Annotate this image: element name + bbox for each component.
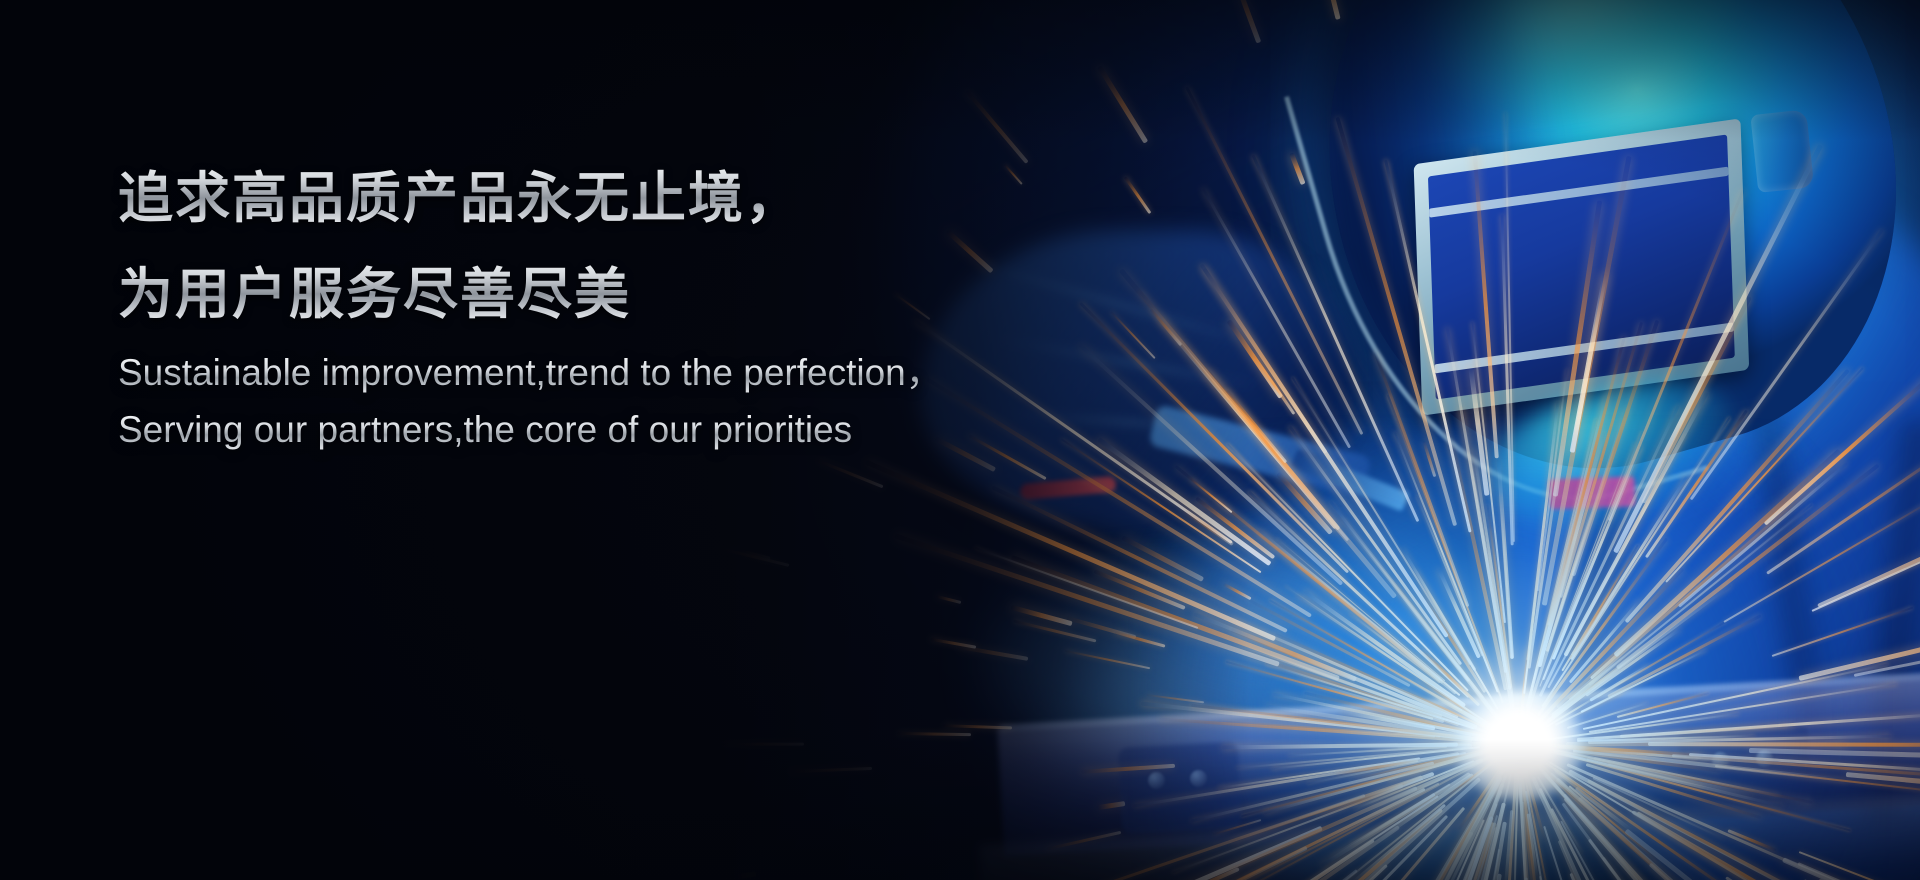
spark-streak — [1123, 176, 1150, 214]
spark-streak — [1064, 649, 1150, 669]
headline-line-1: 追求高品质产品永无止境， — [118, 150, 1118, 246]
spark-streak — [1096, 65, 1147, 144]
spark-streak — [1233, 0, 1261, 43]
headline-line-2: 为用户服务尽善尽美 — [118, 246, 1118, 342]
hero-banner: 追求高品质产品永无止境， 为用户服务尽善尽美 Sustainable impro… — [0, 0, 1920, 880]
spark-streak — [897, 732, 971, 736]
spark-streak — [1318, 0, 1340, 20]
spark-streak — [789, 767, 872, 773]
spark-streak — [1253, 354, 1295, 414]
banner-copy: 追求高品质产品永无止境， 为用户服务尽善尽美 Sustainable impro… — [118, 150, 1118, 456]
spark-streak — [721, 743, 804, 746]
spark-streak — [931, 638, 977, 649]
spark-streak — [937, 595, 962, 604]
spark-streak — [943, 723, 1012, 729]
arc-flash-hotspot — [1482, 712, 1554, 774]
arc-flash-glow — [1140, 430, 1880, 880]
spark-streak — [1149, 309, 1181, 346]
spark-streak — [1202, 187, 1352, 448]
subheadline-line-1: Sustainable improvement,trend to the per… — [118, 346, 1118, 399]
subheadline-line-2: Serving our partners,the core of our pri… — [118, 403, 1118, 456]
spark-streak — [732, 871, 756, 880]
spark-streak — [1047, 831, 1122, 850]
spark-streak — [1289, 153, 1305, 185]
spark-streak — [956, 645, 1028, 661]
spark-streak — [1097, 801, 1125, 810]
